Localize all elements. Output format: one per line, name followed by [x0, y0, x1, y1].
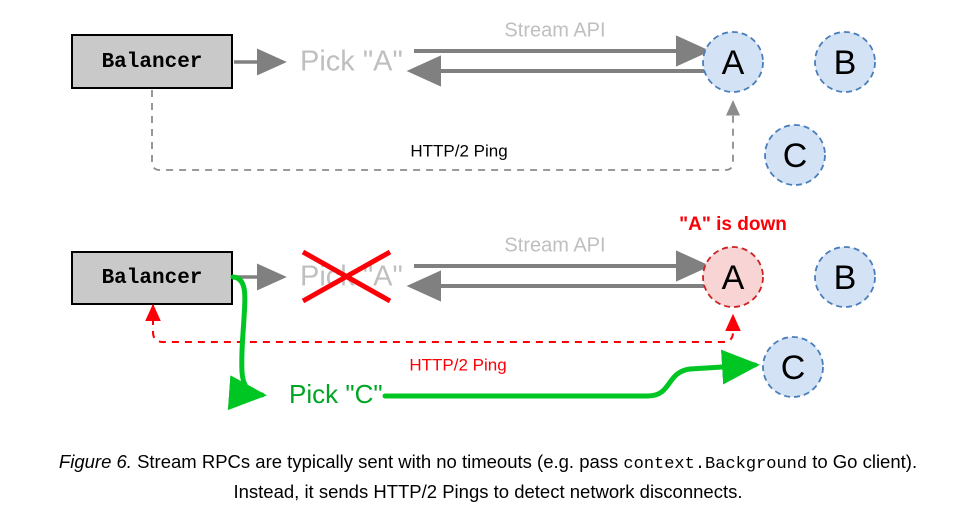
top-balancer-box[interactable]: Balancer: [72, 35, 232, 88]
bottom-http2-ping-path: [153, 305, 733, 342]
bottom-node-a-letter: A: [722, 259, 745, 297]
bottom-balancer-label: Balancer: [102, 267, 203, 290]
diagram-canvas: Balancer Pick "A" Stream API HTTP/2 Ping…: [0, 0, 976, 440]
bottom-node-a[interactable]: A: [703, 247, 763, 307]
top-panel: Balancer Pick "A" Stream API HTTP/2 Ping…: [72, 19, 875, 185]
top-stream-api-label: Stream API: [504, 19, 605, 41]
top-node-a-letter: A: [722, 44, 745, 82]
node-a-down-label: "A" is down: [679, 214, 787, 235]
bottom-node-c[interactable]: C: [763, 337, 823, 397]
bottom-node-b[interactable]: B: [815, 247, 875, 307]
figure-container: Balancer Pick "A" Stream API HTTP/2 Ping…: [0, 0, 976, 525]
top-node-b-letter: B: [834, 44, 857, 82]
bottom-balancer-box[interactable]: Balancer: [72, 252, 232, 304]
top-http2-ping-label: HTTP/2 Ping: [410, 141, 507, 160]
caption-text-part-1: Stream RPCs are typically sent with no t…: [132, 451, 623, 472]
top-node-a[interactable]: A: [703, 32, 763, 92]
top-node-c[interactable]: C: [765, 125, 825, 185]
pick-c-label: Pick "C": [289, 379, 383, 409]
figure-caption: Figure 6. Stream RPCs are typically sent…: [28, 448, 948, 505]
top-node-c-letter: C: [783, 137, 808, 175]
caption-inline-code: context.Background: [623, 455, 807, 474]
top-pick-label: Pick "A": [300, 46, 403, 78]
pick-c-route-from-balancer: [233, 277, 262, 395]
figure-number: Figure 6.: [59, 451, 132, 472]
bottom-http2-ping-label: HTTP/2 Ping: [409, 355, 506, 374]
bottom-panel: Balancer Pick "A" Stream API "A" is down: [72, 214, 875, 409]
top-balancer-label: Balancer: [102, 51, 203, 74]
bottom-node-b-letter: B: [834, 259, 857, 297]
bottom-stream-api-label: Stream API: [504, 234, 605, 256]
bottom-node-c-letter: C: [781, 349, 806, 387]
top-node-b[interactable]: B: [815, 32, 875, 92]
